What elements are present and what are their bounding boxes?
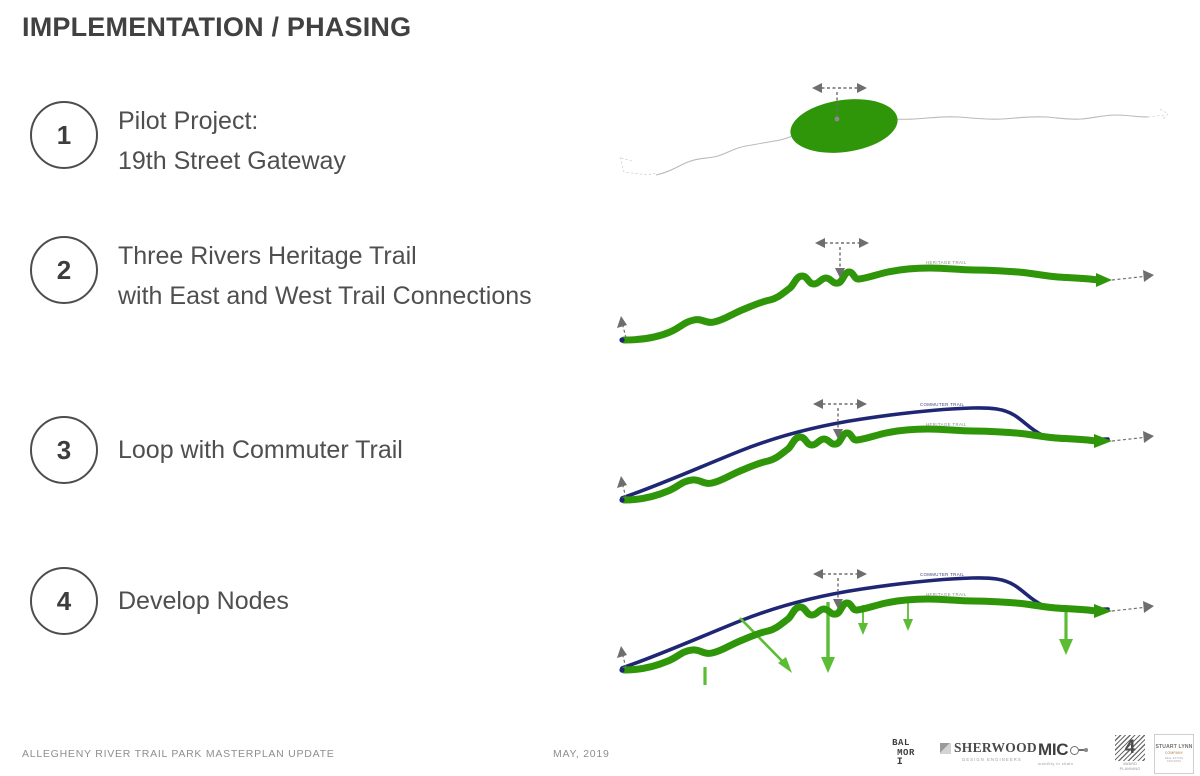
mic-tagline: mobility in chain bbox=[1038, 761, 1116, 766]
node-arrow-1 bbox=[698, 667, 712, 685]
page-title: IMPLEMENTATION / PHASING bbox=[22, 12, 411, 43]
mic-logo: MIC mobility in chain bbox=[1038, 740, 1116, 766]
trail-west-endpoint bbox=[619, 497, 624, 502]
phase-label-4: Develop Nodes bbox=[118, 567, 289, 621]
commuter-trail-line bbox=[622, 578, 1108, 668]
phase-item-2: 2 Three Rivers Heritage Trail with East … bbox=[30, 236, 532, 316]
heritage-trail-line bbox=[624, 268, 1098, 340]
phase-label-2: Three Rivers Heritage Trail with East an… bbox=[118, 236, 532, 316]
balmori-line-1: BAL bbox=[892, 738, 910, 748]
gateway-connector-icon bbox=[815, 238, 869, 278]
phase-number-badge-2: 2 bbox=[30, 236, 98, 304]
river-west-terminus-icon bbox=[620, 157, 656, 175]
fourward-tagline: 4WARD PLANNING bbox=[1120, 762, 1141, 771]
heritage-trail-label: HERITAGE TRAIL bbox=[926, 260, 967, 265]
sherwood-name: SHERWOOD bbox=[954, 740, 1037, 756]
phase-item-1: 1 Pilot Project: 19th Street Gateway bbox=[30, 101, 346, 181]
stuart-tagline: REAL ESTATE ADVISORS bbox=[1165, 757, 1183, 764]
phase-1-diagram bbox=[600, 62, 1185, 197]
sherwood-logo: SHERWOOD DESIGN ENGINEERS bbox=[940, 740, 1032, 762]
phase-2-diagram: HERITAGE TRAIL bbox=[600, 228, 1185, 356]
phase-number-1: 1 bbox=[57, 120, 71, 151]
phase-label-3: Loop with Commuter Trail bbox=[118, 416, 403, 470]
heritage-trail-label: HERITAGE TRAIL bbox=[926, 422, 967, 427]
footer-date: MAY, 2019 bbox=[553, 748, 610, 760]
phase-number-badge-4: 4 bbox=[30, 567, 98, 635]
stuart-lynn-logo: STUART LYNN COMPANY REAL ESTATE ADVISORS bbox=[1154, 734, 1194, 774]
west-connection-arrow-icon bbox=[617, 316, 627, 338]
footer-project-title: ALLEGHENY RIVER TRAIL PARK MASTERPLAN UP… bbox=[22, 748, 335, 760]
river-corridor-line bbox=[656, 115, 1148, 175]
commuter-trail-line bbox=[622, 408, 1108, 498]
sherwood-tagline: DESIGN ENGINEERS bbox=[940, 757, 1032, 762]
commuter-trail-label: COMMUTER TRAIL bbox=[920, 572, 965, 577]
heritage-trail-line bbox=[624, 429, 1096, 500]
heritage-trail-arrowhead-east bbox=[1096, 273, 1112, 287]
heritage-trail-label: HERITAGE TRAIL bbox=[926, 592, 967, 597]
trail-west-endpoint bbox=[619, 667, 624, 672]
phase-4-diagram: COMMUTER TRAIL HERITAGE TRAIL bbox=[600, 545, 1185, 685]
stuart-sub: COMPANY bbox=[1165, 751, 1183, 755]
phase-number-badge-1: 1 bbox=[30, 101, 98, 169]
heritage-trail-arrowhead-east bbox=[1094, 434, 1112, 448]
fourward-numeral: 4 bbox=[1115, 735, 1145, 761]
mic-chain-icon bbox=[1070, 746, 1088, 755]
node-arrow-6 bbox=[1059, 608, 1073, 655]
heritage-trail-arrowhead-east bbox=[1094, 604, 1112, 618]
river-east-terminus-icon bbox=[1148, 109, 1168, 120]
balmori-line-3: I bbox=[897, 758, 904, 768]
pilot-project-node bbox=[787, 93, 901, 160]
fourward-planning-logo: 4 4WARD PLANNING bbox=[1108, 732, 1152, 774]
phase-3-diagram: COMMUTER TRAIL HERITAGE TRAIL bbox=[600, 385, 1185, 510]
logo-strip: BAL MOR I SHERWOOD DESIGN ENGINEERS MIC … bbox=[862, 730, 1192, 776]
sherwood-name-row: SHERWOOD bbox=[940, 740, 1032, 756]
commuter-trail-label: COMMUTER TRAIL bbox=[920, 402, 965, 407]
mic-name-row: MIC bbox=[1038, 740, 1116, 760]
mic-name: MIC bbox=[1038, 740, 1068, 760]
sherwood-mark-icon bbox=[940, 743, 951, 754]
west-connection-arrow-icon bbox=[617, 476, 627, 498]
stuart-name: STUART LYNN bbox=[1155, 744, 1192, 750]
phase-number-4: 4 bbox=[57, 586, 71, 617]
phase-item-4: 4 Develop Nodes bbox=[30, 567, 289, 635]
trail-west-endpoint bbox=[619, 337, 624, 342]
west-connection-arrow-icon bbox=[617, 646, 627, 668]
phase-number-3: 3 bbox=[57, 435, 71, 466]
fourward-mark-icon: 4 bbox=[1115, 735, 1145, 761]
east-connection-arrow-icon bbox=[1112, 431, 1154, 443]
phase-number-2: 2 bbox=[57, 255, 71, 286]
phase-item-3: 3 Loop with Commuter Trail bbox=[30, 416, 403, 484]
east-connection-arrow-icon bbox=[1112, 601, 1154, 613]
slide-root: IMPLEMENTATION / PHASING 1 Pilot Project… bbox=[0, 0, 1200, 776]
east-connection-arrow-icon bbox=[1112, 270, 1154, 282]
node-arrow-5 bbox=[903, 602, 913, 631]
balmori-logo: BAL MOR I bbox=[870, 733, 932, 773]
phase-label-1: Pilot Project: 19th Street Gateway bbox=[118, 101, 346, 181]
phase-number-badge-3: 3 bbox=[30, 416, 98, 484]
heritage-trail-line bbox=[624, 599, 1096, 670]
